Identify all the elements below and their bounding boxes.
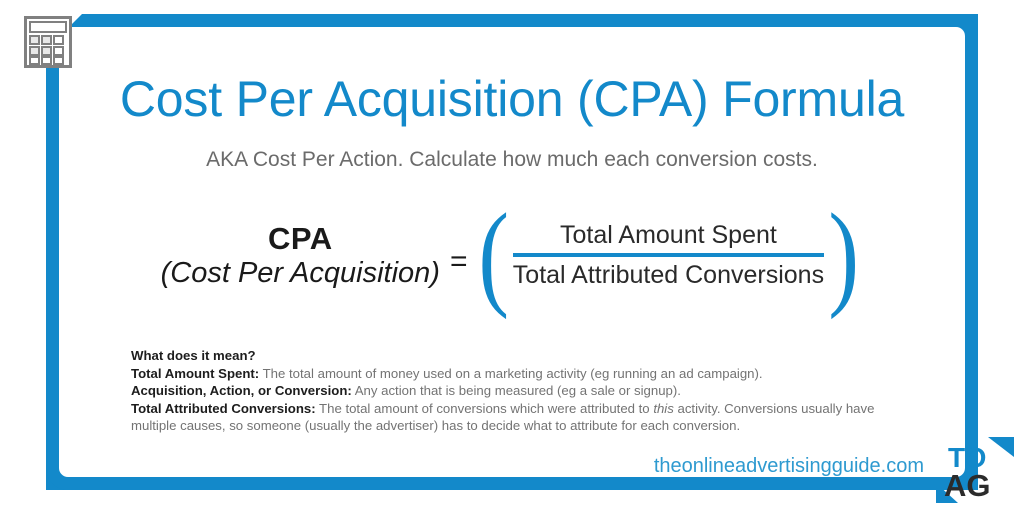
formula-block: CPA (Cost Per Acquisition) = ( Total Amo… bbox=[0, 213, 1024, 298]
explanation-emphasis: this bbox=[653, 401, 674, 416]
formula-close-paren: ) bbox=[828, 213, 859, 298]
explanation-item-total-attributed-conversions: Total Attributed Conversions: The total … bbox=[131, 400, 891, 435]
frame-corner-top-right bbox=[932, 14, 978, 60]
explanation-item-total-amount-spent: Total Amount Spent: The total amount of … bbox=[131, 365, 891, 383]
formula-expanded-name: (Cost Per Acquisition) bbox=[161, 257, 440, 289]
site-url[interactable]: theonlineadvertisingguide.com bbox=[654, 455, 924, 478]
frame-border-bottom bbox=[46, 477, 978, 490]
frame-border-top bbox=[82, 14, 966, 27]
explanation-definition-part1: The total amount of conversions which we… bbox=[316, 401, 654, 416]
toag-logo[interactable]: TO AG bbox=[936, 437, 1014, 503]
explanation-block: What does it mean? Total Amount Spent: T… bbox=[131, 347, 891, 435]
formula-left-side: CPA (Cost Per Acquisition) bbox=[161, 222, 440, 289]
svg-text:AG: AG bbox=[944, 468, 991, 503]
explanation-term: Total Amount Spent: bbox=[131, 366, 259, 381]
explanation-item-acquisition-action-conversion: Acquisition, Action, or Conversion: Any … bbox=[131, 382, 891, 400]
explanation-term: Acquisition, Action, or Conversion: bbox=[131, 383, 352, 398]
formula-abbreviation: CPA bbox=[161, 222, 440, 257]
explanation-term: Total Attributed Conversions: bbox=[131, 401, 316, 416]
frame-corner-bottom-left bbox=[46, 444, 92, 490]
explanation-definition: Any action that is being measured (eg a … bbox=[352, 383, 681, 398]
explanation-heading: What does it mean? bbox=[131, 347, 891, 365]
formula-numerator: Total Amount Spent bbox=[560, 221, 777, 253]
infographic-canvas: Cost Per Acquisition (CPA) Formula AKA C… bbox=[0, 0, 1024, 512]
page-subtitle: AKA Cost Per Action. Calculate how much … bbox=[0, 148, 1024, 172]
formula-denominator: Total Attributed Conversions bbox=[513, 257, 824, 290]
formula-open-paren: ( bbox=[478, 213, 509, 298]
calculator-icon bbox=[24, 16, 72, 68]
formula-fraction: Total Amount Spent Total Attributed Conv… bbox=[509, 221, 828, 290]
formula-equals-sign: = bbox=[450, 245, 468, 279]
page-title: Cost Per Acquisition (CPA) Formula bbox=[0, 74, 1024, 124]
explanation-definition: The total amount of money used on a mark… bbox=[259, 366, 762, 381]
